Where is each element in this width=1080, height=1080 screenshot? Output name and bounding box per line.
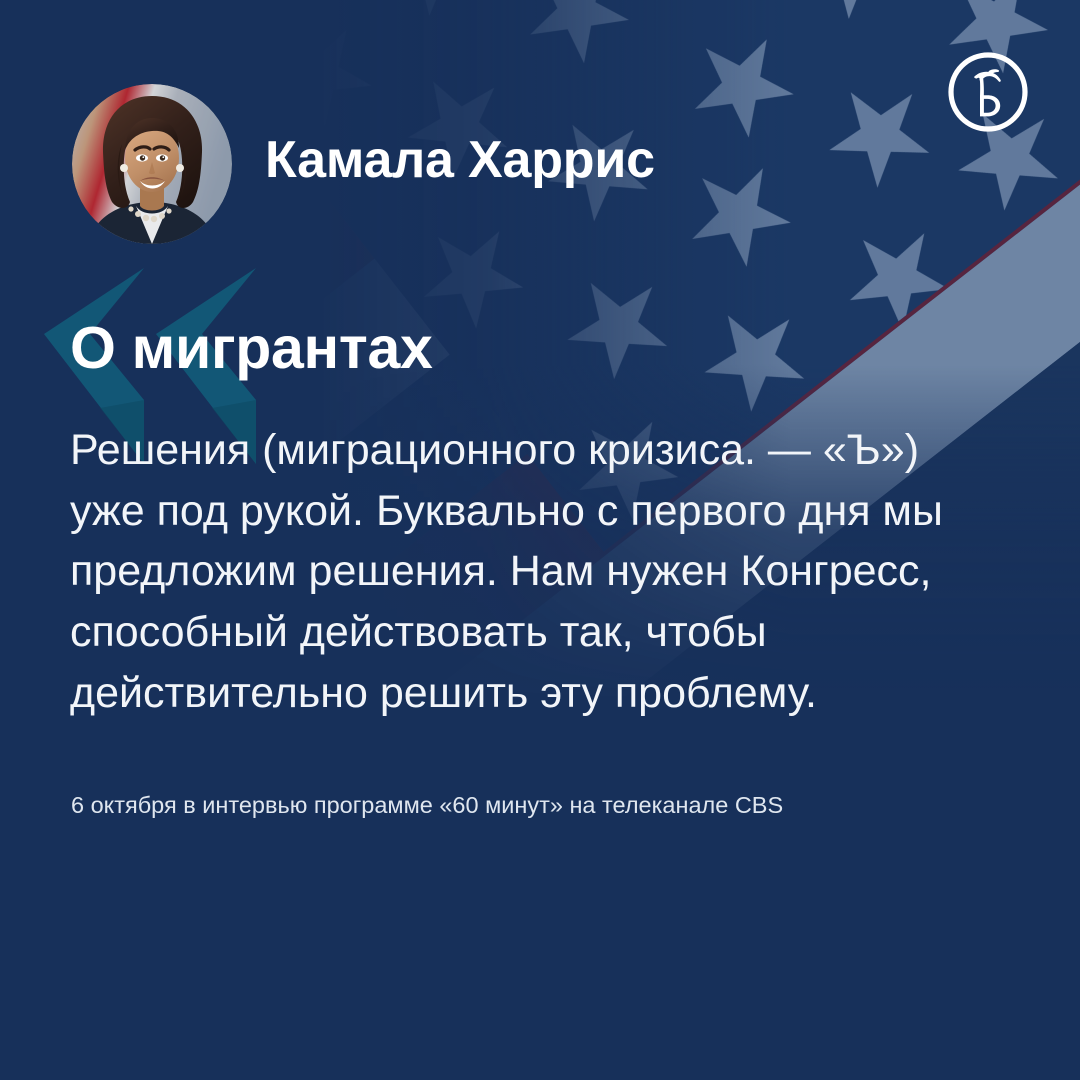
quote-line: способный действовать так, чтобы	[70, 602, 980, 663]
kamala-harris-portrait	[72, 84, 232, 244]
quote-card: Камала Харрис О мигрантах Решения (мигра…	[0, 0, 1080, 1080]
quote-line: предложим решения. Нам нужен Конгресс,	[70, 541, 980, 602]
quote-line: уже под рукой. Буквально с первого дня м…	[70, 481, 980, 542]
kommersant-logo[interactable]	[943, 47, 1033, 137]
page-title: О мигрантах	[70, 316, 432, 381]
speaker-name: Камала Харрис	[265, 131, 655, 191]
quote-text: Решения (миграционного кризиса. — «Ъ») у…	[70, 420, 980, 723]
avatar	[72, 84, 232, 244]
source-caption: 6 октября в интервью программе «60 минут…	[71, 790, 1001, 822]
quote-line: действительно решить эту проблему.	[70, 663, 980, 724]
kommersant-logo-icon	[943, 47, 1033, 137]
quote-line: Решения (миграционного кризиса. — «Ъ»)	[70, 420, 980, 481]
